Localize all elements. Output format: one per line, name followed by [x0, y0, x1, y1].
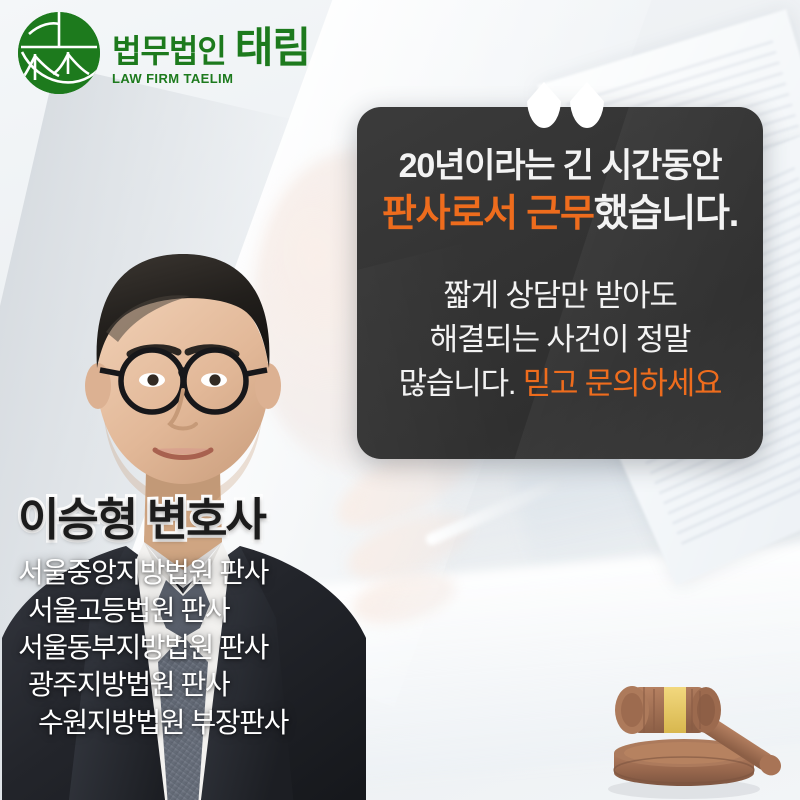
list-item: 서울동부지방법원 판사: [18, 632, 368, 663]
quote-line-4: 해결되는 사건이 정말: [379, 318, 741, 362]
quote-line-5: 많습니다. 믿고 문의하세요: [379, 362, 741, 406]
list-item: 광주지방법원 판사: [18, 669, 368, 700]
page-title: 이승형 변호사: [18, 496, 368, 543]
quote-spacer: [379, 238, 741, 274]
list-item: 서울고등법원 판사: [18, 595, 368, 626]
quote-card: 20년이라는 긴 시간동안 판사로서 근무했습니다. 짧게 상담만 받아도 해결…: [357, 107, 763, 459]
poster-canvas: 법무법인 태림 LAW FIRM TAELIM 20년이라는 긴 시간동안 판사…: [0, 0, 800, 800]
credentials-list: 서울중앙지방법원 판사 서울고등법원 판사 서울동부지방법원 판사 광주지방법원…: [18, 557, 368, 738]
quote-line-2-rest: 했습니다.: [594, 193, 738, 235]
emblem-shape: [18, 12, 100, 94]
quote-line-3: 짧게 상담만 받아도: [379, 274, 741, 318]
brand-korean-small: 법무법인: [112, 35, 226, 67]
quote-glyph-right: [570, 82, 604, 128]
brand-korean-large: 태림: [235, 27, 310, 69]
quote-highlight-1: 판사로서 근무: [382, 193, 594, 235]
taelim-circle-emblem-icon: [18, 12, 100, 94]
quote-highlight-2: 믿고 문의하세요: [523, 366, 722, 401]
list-item: 수원지방법원 부장판사: [18, 707, 368, 738]
quote-glyph-left: [527, 82, 561, 128]
quotation-mark-icon: [527, 82, 604, 128]
quote-line-5-plain: 많습니다.: [399, 366, 523, 401]
gavel-icon: [588, 665, 793, 800]
brand-english-name: LAW FIRM TAELIM: [112, 72, 310, 85]
brand-logo[interactable]: 법무법인 태림 LAW FIRM TAELIM: [18, 12, 310, 94]
profile-block: 이승형 변호사 서울중앙지방법원 판사 서울고등법원 판사 서울동부지방법원 판…: [18, 496, 368, 738]
quote-line-2: 판사로서 근무했습니다.: [379, 191, 741, 239]
gavel-illustration: [588, 665, 793, 800]
list-item: 서울중앙지방법원 판사: [18, 557, 368, 588]
quote-text-block: 20년이라는 긴 시간동안 판사로서 근무했습니다. 짧게 상담만 받아도 해결…: [357, 107, 763, 406]
brand-wordmark: 법무법인 태림 LAW FIRM TAELIM: [112, 21, 310, 85]
quote-line-1: 20년이라는 긴 시간동안: [379, 145, 741, 189]
